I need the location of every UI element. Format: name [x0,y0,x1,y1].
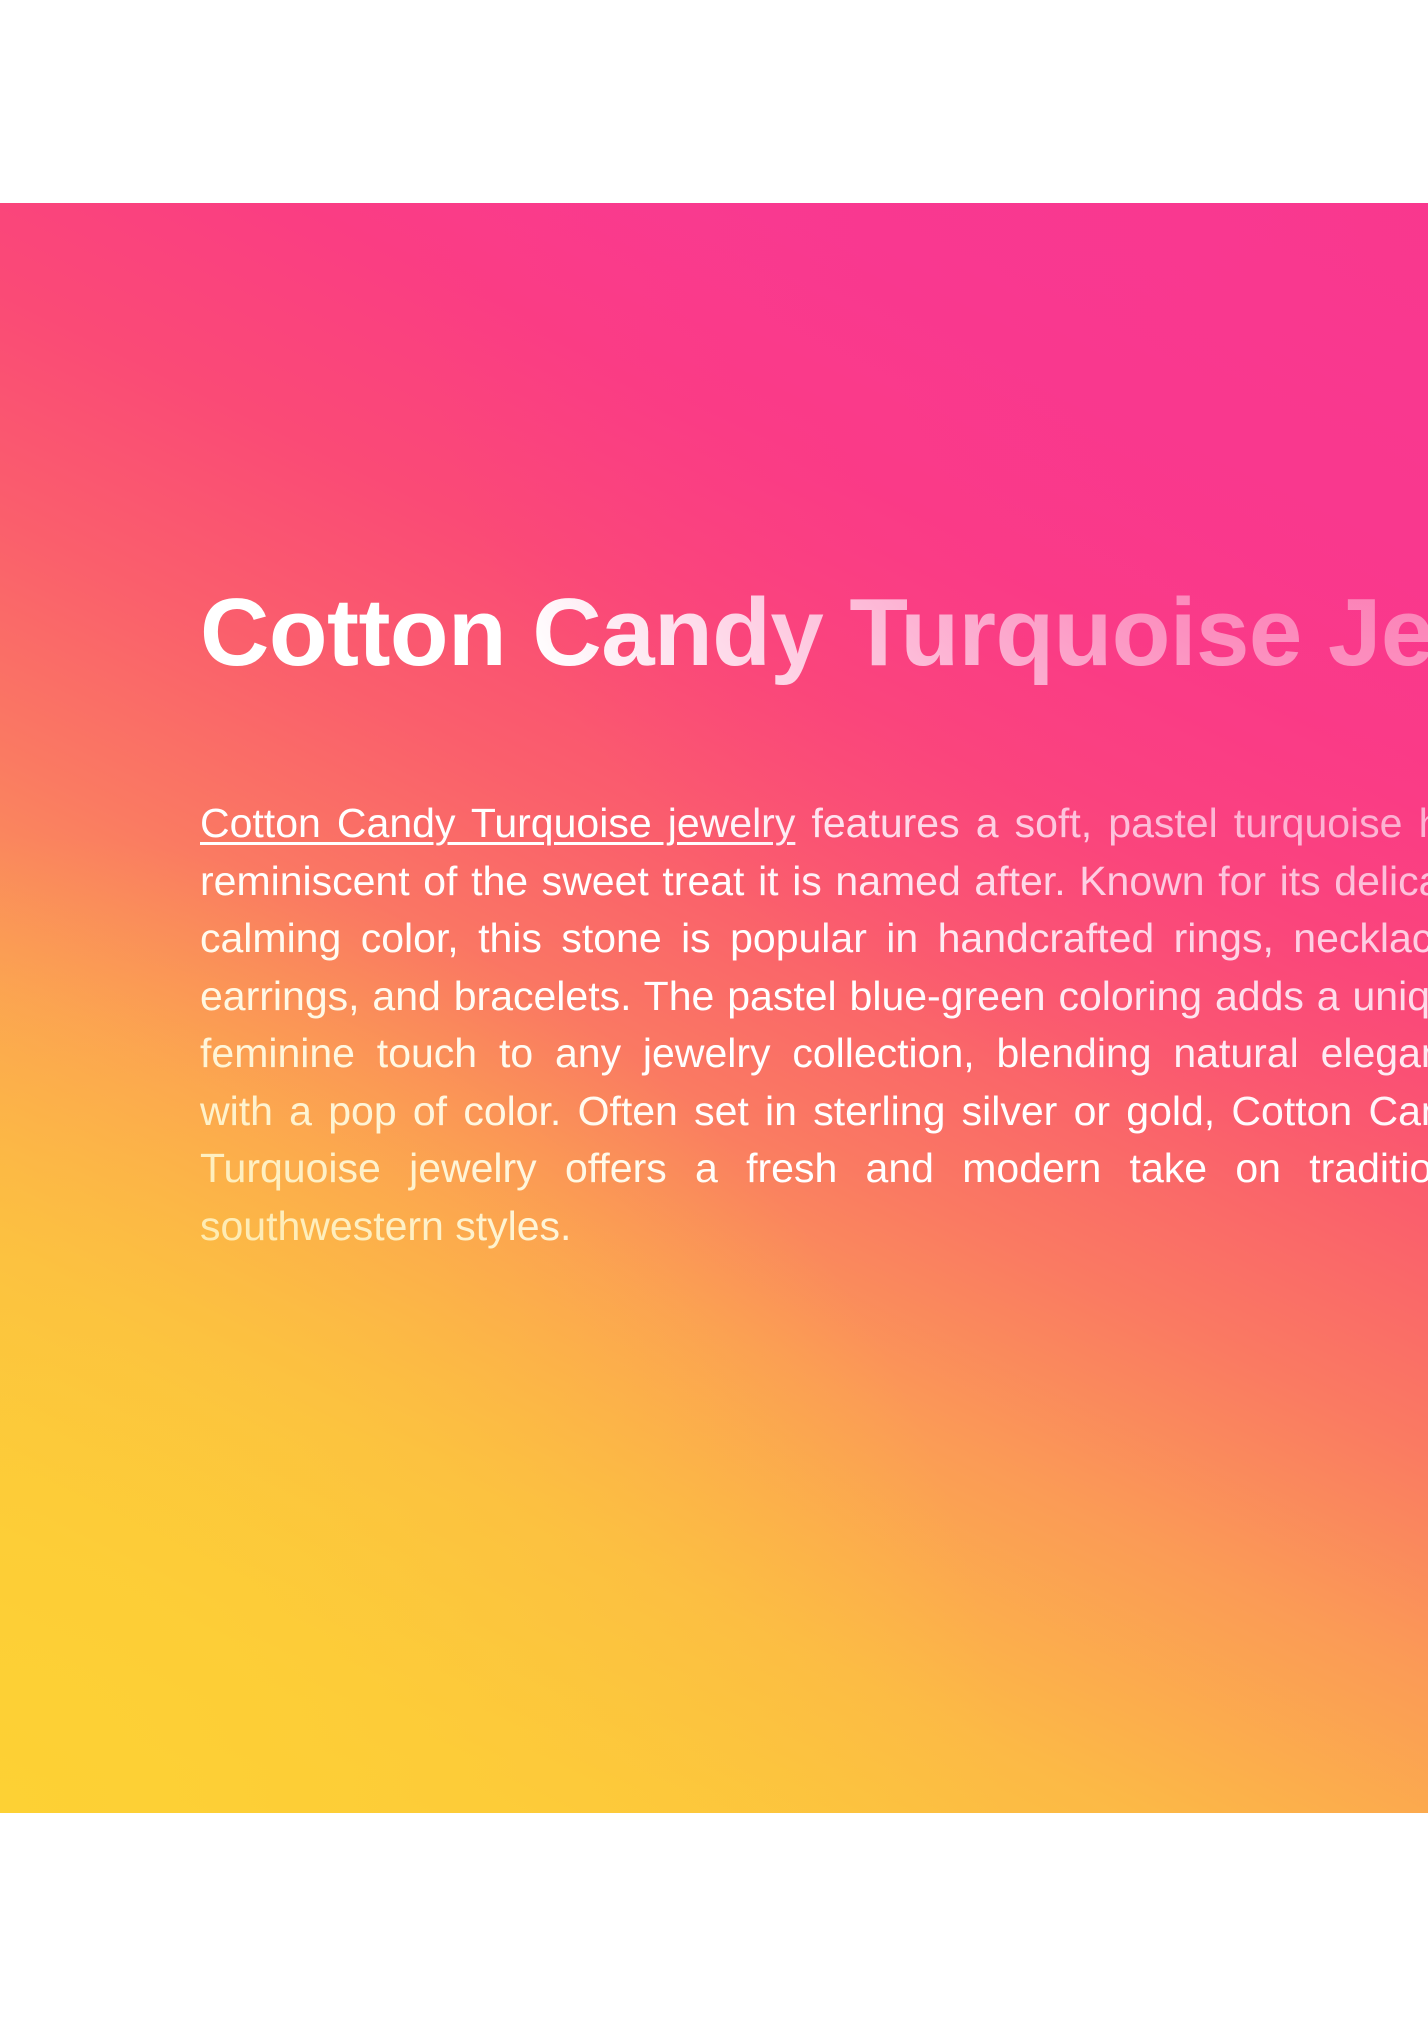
cotton-candy-turquoise-jewelry-link[interactable]: Cotton Candy Turquoise jewelry [200,800,795,846]
gradient-hero-section: Cotton Candy Turquoise Jewelry Cotton Ca… [0,203,1428,1813]
hero-body-paragraph: Cotton Candy Turquoise jewelry features … [200,795,1428,1255]
page-title: Cotton Candy Turquoise Jewelry [200,581,1428,685]
hero-body-text: features a soft, pastel turquoise hue re… [200,800,1428,1249]
page-canvas: Cotton Candy Turquoise Jewelry Cotton Ca… [0,0,1428,2018]
hero-content-wrapper: Cotton Candy Turquoise Jewelry Cotton Ca… [200,203,1428,1813]
